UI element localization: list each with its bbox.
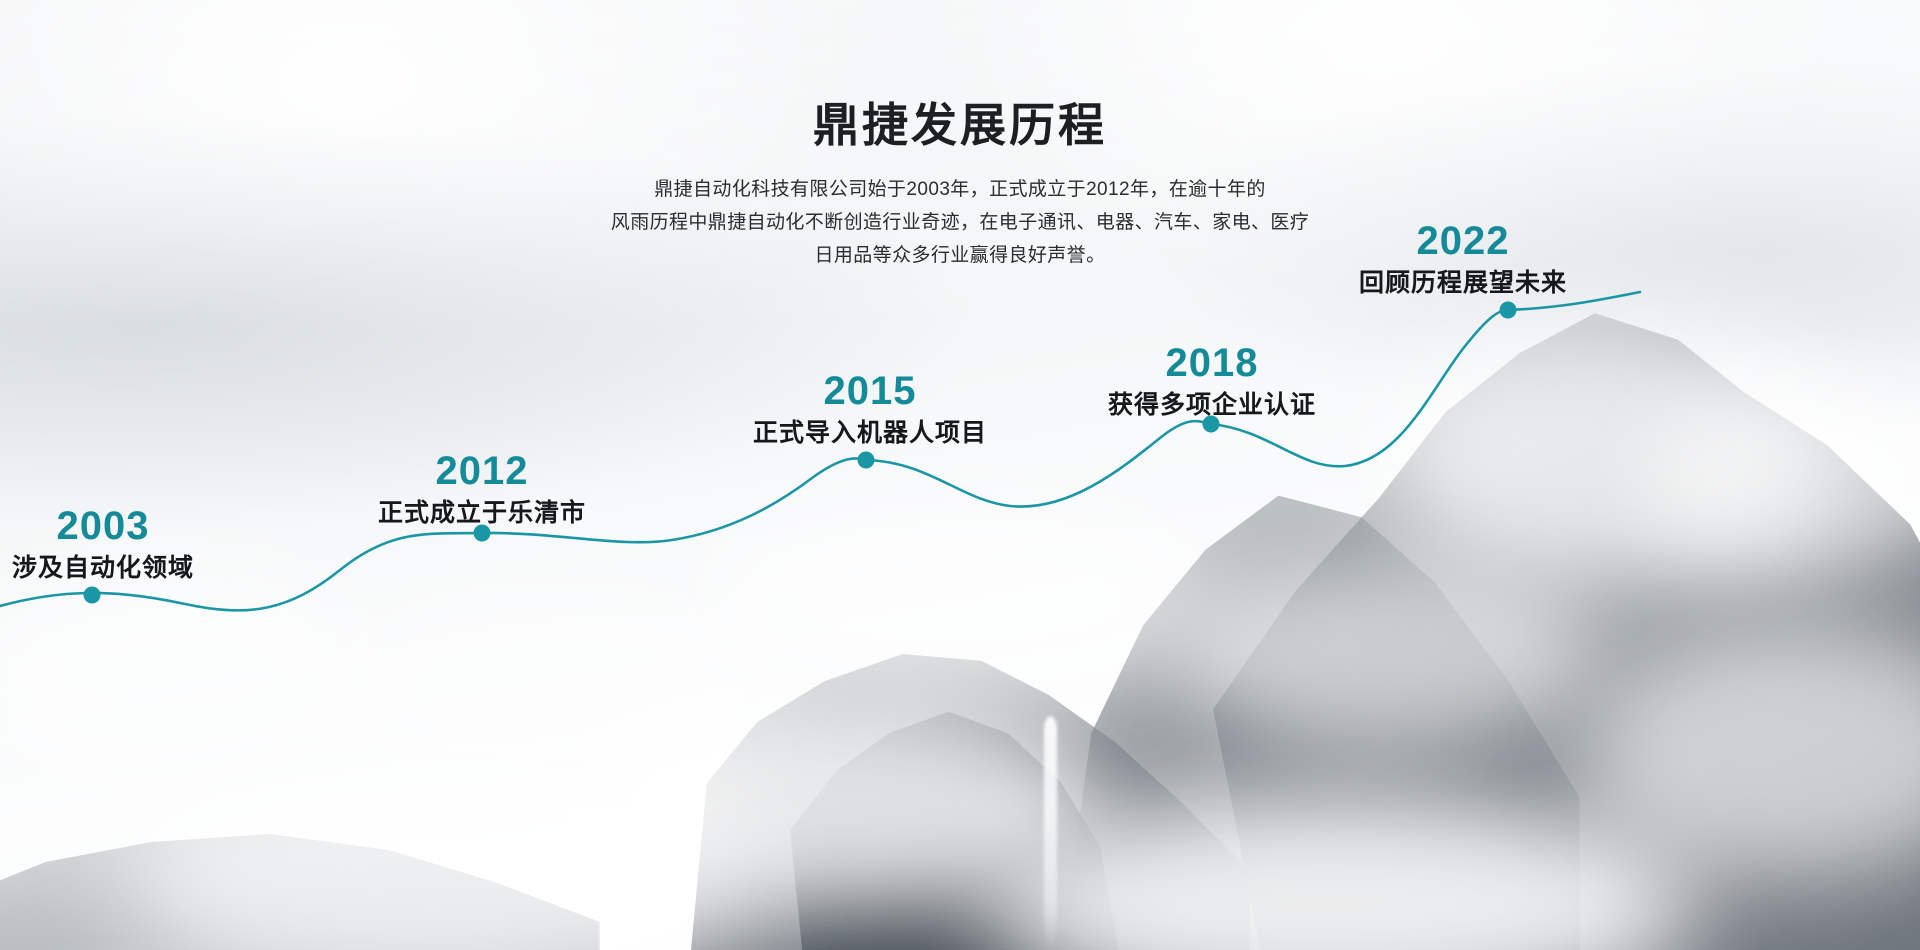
- subtitle-line: 日用品等众多行业赢得良好声誉。: [560, 239, 1360, 272]
- milestone-2022[interactable]: 2022回顾历程展望未来: [1359, 220, 1567, 298]
- timeline-dot-2015[interactable]: [858, 452, 875, 469]
- subtitle-line: 风雨历程中鼎捷自动化不断创造行业奇迹，在电子通讯、电器、汽车、家电、医疗: [560, 206, 1360, 239]
- milestone-2003[interactable]: 2003涉及自动化领域: [12, 505, 194, 583]
- milestone-year-2003: 2003: [12, 505, 194, 547]
- subtitle-paragraph: 鼎捷自动化科技有限公司始于2003年，正式成立于2012年，在逾十年的 风雨历程…: [560, 173, 1360, 272]
- milestone-year-2012: 2012: [378, 450, 586, 492]
- milestone-description-2022: 回顾历程展望未来: [1359, 268, 1567, 298]
- timeline-dot-2003[interactable]: [84, 587, 101, 604]
- milestone-description-2018: 获得多项企业认证: [1108, 390, 1316, 420]
- timeline-dot-2022[interactable]: [1500, 302, 1517, 319]
- header: 鼎捷发展历程 鼎捷自动化科技有限公司始于2003年，正式成立于2012年，在逾十…: [0, 0, 1920, 272]
- milestone-description-2003: 涉及自动化领域: [12, 553, 194, 583]
- infographic-canvas: 鼎捷发展历程 鼎捷自动化科技有限公司始于2003年，正式成立于2012年，在逾十…: [0, 0, 1920, 950]
- page-title: 鼎捷发展历程: [0, 0, 1920, 151]
- milestone-year-2018: 2018: [1108, 342, 1316, 384]
- milestone-2018[interactable]: 2018获得多项企业认证: [1108, 342, 1316, 420]
- timeline-path: [0, 292, 1640, 612]
- milestone-year-2022: 2022: [1359, 220, 1567, 262]
- milestone-year-2015: 2015: [753, 370, 987, 412]
- milestone-2012[interactable]: 2012正式成立于乐清市: [378, 450, 586, 528]
- milestone-description-2015: 正式导入机器人项目: [753, 418, 987, 448]
- subtitle-line: 鼎捷自动化科技有限公司始于2003年，正式成立于2012年，在逾十年的: [560, 173, 1360, 206]
- milestone-2015[interactable]: 2015正式导入机器人项目: [753, 370, 987, 448]
- milestone-description-2012: 正式成立于乐清市: [378, 498, 586, 528]
